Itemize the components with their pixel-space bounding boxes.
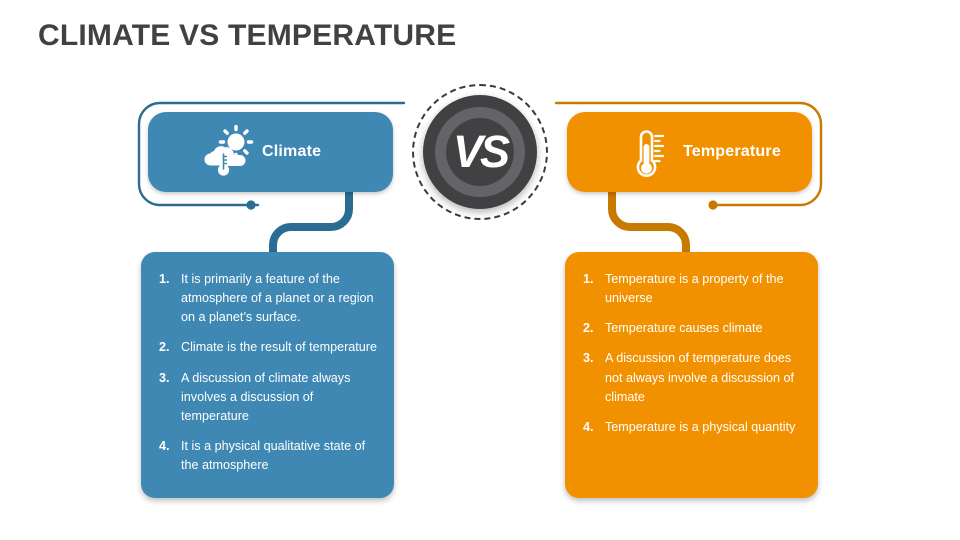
list-item-number: 1.	[577, 270, 605, 308]
climate-header-label: Climate	[262, 143, 321, 161]
list-item-number: 3.	[577, 349, 605, 406]
list-item-text: Climate is the result of temperature	[181, 338, 380, 357]
list-item-number: 4.	[577, 418, 605, 437]
left-connector	[273, 192, 349, 258]
list-item-number: 2.	[577, 319, 605, 338]
climate-header[interactable]: Climate	[148, 112, 393, 192]
list-item-text: Temperature causes climate	[605, 319, 804, 338]
list-item-number: 4.	[153, 437, 181, 475]
temperature-header-label: Temperature	[683, 143, 781, 161]
climate-list-box: 1. It is primarily a feature of the atmo…	[141, 252, 394, 498]
list-item: 3. A discussion of climate always involv…	[153, 369, 380, 426]
list-item: 4. It is a physical qualitative state of…	[153, 437, 380, 475]
thermometer-icon	[617, 125, 679, 179]
temperature-list-box: 1. Temperature is a property of the univ…	[565, 252, 818, 498]
list-item: 1. Temperature is a property of the univ…	[577, 270, 804, 308]
list-item: 2. Temperature causes climate	[577, 319, 804, 338]
temperature-list: 1. Temperature is a property of the univ…	[577, 270, 804, 437]
left-frame-dot	[246, 200, 255, 209]
list-item: 1. It is primarily a feature of the atmo…	[153, 270, 380, 327]
sun-cloud-thermometer-icon	[196, 125, 258, 179]
list-item: 2. Climate is the result of temperature	[153, 338, 380, 357]
list-item: 4. Temperature is a physical quantity	[577, 418, 804, 437]
vs-badge: VS	[412, 84, 548, 220]
temperature-header[interactable]: Temperature	[567, 112, 812, 192]
vs-label: VS	[412, 84, 548, 220]
page-title: CLIMATE VS TEMPERATURE	[38, 19, 456, 53]
list-item-text: It is a physical qualitative state of th…	[181, 437, 380, 475]
right-connector	[612, 192, 686, 258]
slide-canvas: CLIMATE VS TEMPERATURE	[0, 0, 960, 540]
list-item-text: Temperature is a physical quantity	[605, 418, 804, 437]
climate-list: 1. It is primarily a feature of the atmo…	[153, 270, 380, 475]
list-item-text: It is primarily a feature of the atmosph…	[181, 270, 380, 327]
list-item-number: 2.	[153, 338, 181, 357]
list-item-text: Temperature is a property of the univers…	[605, 270, 804, 308]
right-frame-dot	[708, 200, 717, 209]
list-item-number: 3.	[153, 369, 181, 426]
list-item-text: A discussion of climate always involves …	[181, 369, 380, 426]
list-item-text: A discussion of temperature does not alw…	[605, 349, 804, 406]
list-item: 3. A discussion of temperature does not …	[577, 349, 804, 406]
list-item-number: 1.	[153, 270, 181, 327]
